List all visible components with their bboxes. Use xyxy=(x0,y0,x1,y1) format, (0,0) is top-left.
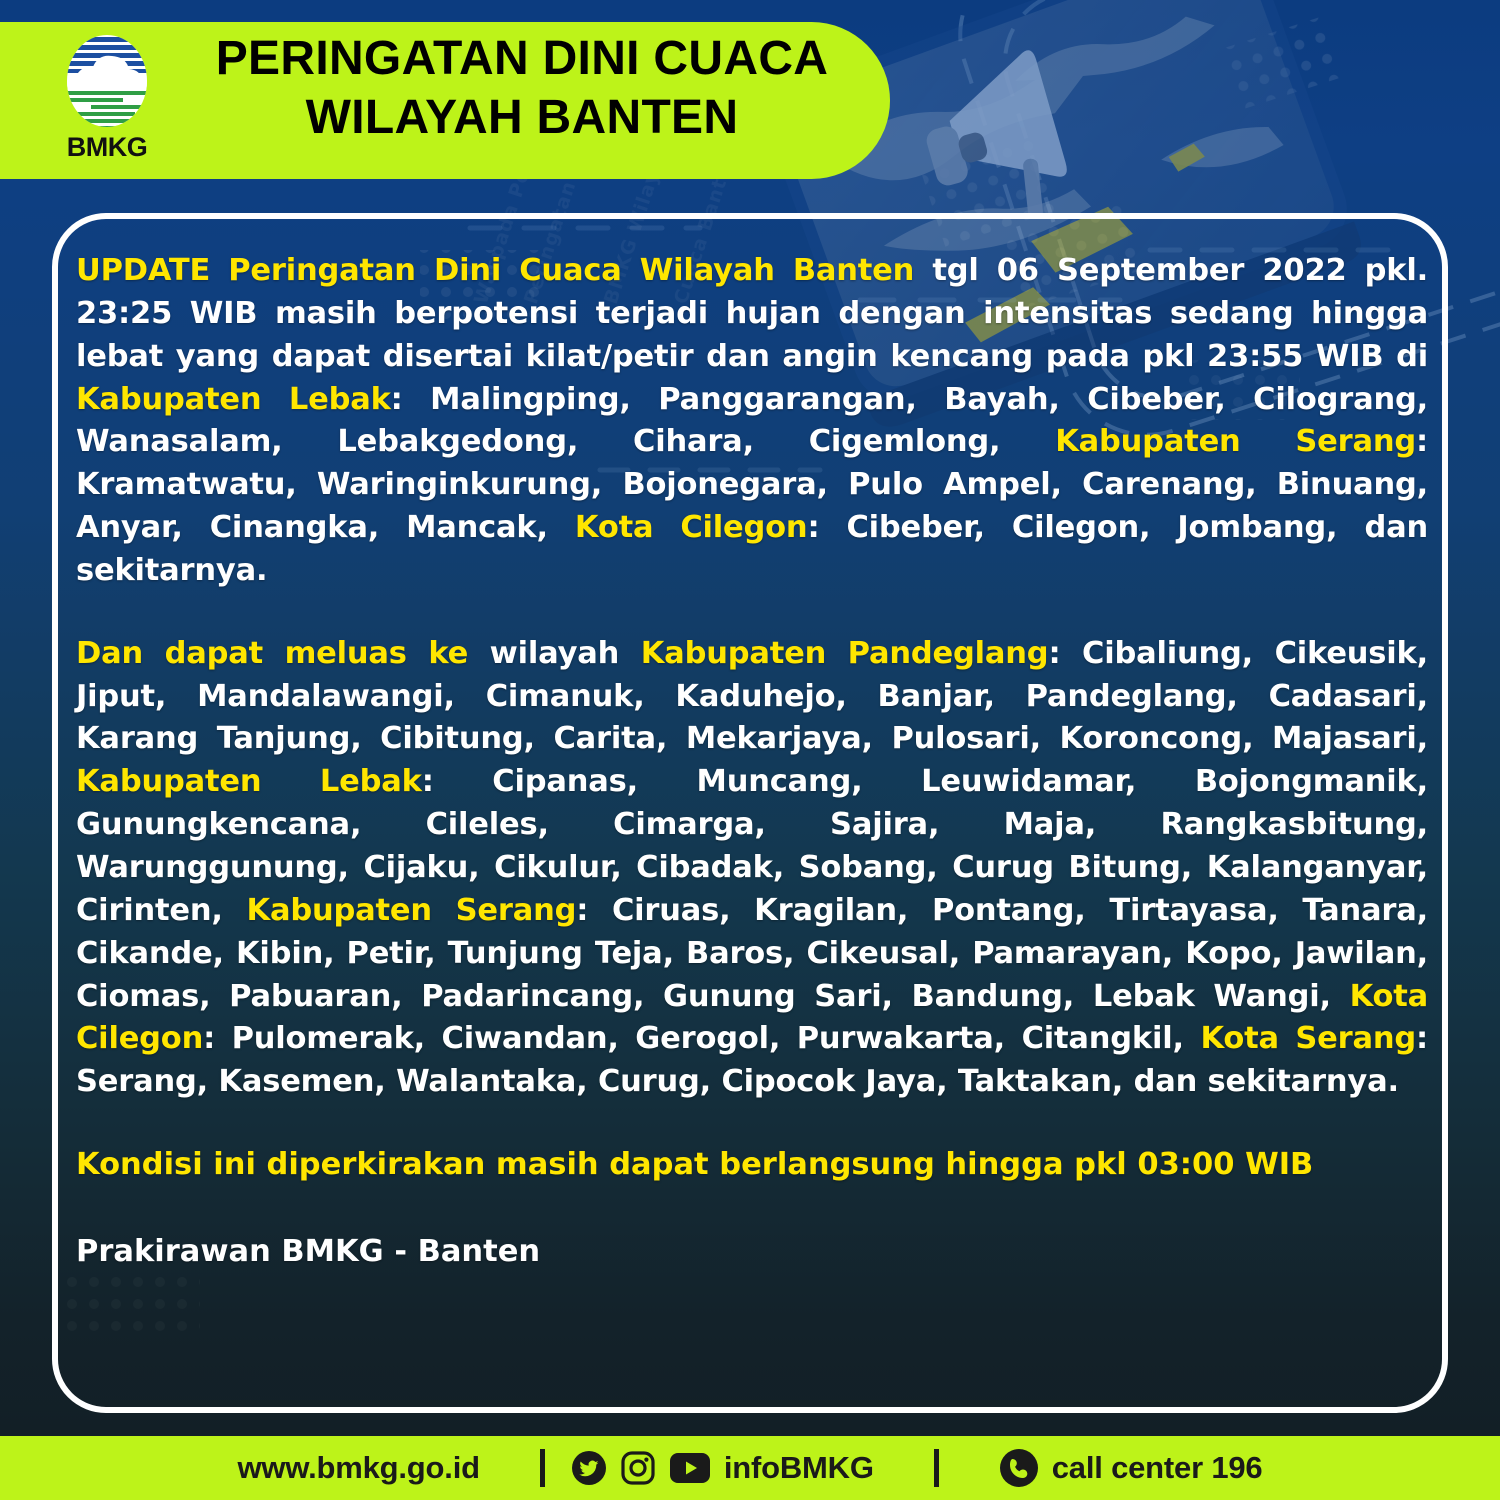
twitter-icon[interactable] xyxy=(571,1450,607,1486)
footer-divider-1 xyxy=(540,1449,545,1487)
warning-paragraph-2-run-9: : Pulomerak, Ciwandan, Gerogol, Purwakar… xyxy=(203,1021,1200,1056)
warning-paragraph-2-run-1: wilayah xyxy=(468,636,641,671)
warning-paragraph-2-run-2: Kabupaten Pandeglang xyxy=(641,636,1049,671)
bmkg-logo: BMKG xyxy=(58,34,156,164)
warning-paragraph-2-run-10: Kota Serang xyxy=(1200,1021,1416,1056)
warning-paragraph-2-run-6: Kabupaten Serang xyxy=(247,893,577,928)
warning-paragraph-1: UPDATE Peringatan Dini Cuaca Wilayah Ban… xyxy=(76,250,1428,593)
warning-paragraph-2: Dan dapat meluas ke wilayah Kabupaten Pa… xyxy=(76,633,1428,1104)
page-title: PERINGATAN DINI CUACA WILAYAH BANTEN xyxy=(172,30,872,147)
page-title-line-2: WILAYAH BANTEN xyxy=(172,89,872,148)
warning-paragraph-1-run-4: Kabupaten Serang xyxy=(1055,424,1416,459)
warning-paragraph-2-run-0: Dan dapat meluas ke xyxy=(76,636,468,671)
footer-call-center[interactable]: call center 196 xyxy=(1052,1450,1263,1486)
warning-paragraph-1-run-2: Kabupaten Lebak xyxy=(76,382,391,417)
warning-content: UPDATE Peringatan Dini Cuaca Wilayah Ban… xyxy=(72,250,1432,1380)
phone-icon xyxy=(999,1448,1039,1488)
warning-closing-note: Kondisi ini diperkirakan masih dapat ber… xyxy=(76,1144,1428,1187)
warning-paragraph-1-run-0: UPDATE Peringatan Dini Cuaca Wilayah Ban… xyxy=(76,253,914,288)
instagram-icon[interactable] xyxy=(620,1450,656,1486)
bmkg-logo-icon xyxy=(65,34,149,132)
youtube-icon[interactable] xyxy=(669,1452,711,1484)
page-title-line-1: PERINGATAN DINI CUACA xyxy=(216,32,829,85)
poster-canvas: Peringatan Dini BMKG Wilayah Cuaca Bante… xyxy=(0,0,1500,1500)
footer-social-handle[interactable]: infoBMKG xyxy=(724,1450,874,1486)
footer-website[interactable]: www.bmkg.go.id xyxy=(238,1450,480,1486)
warning-signature: Prakirawan BMKG - Banten xyxy=(76,1231,1428,1274)
footer-bar: www.bmkg.go.id xyxy=(0,1436,1500,1500)
bmkg-logo-text: BMKG xyxy=(67,134,148,161)
warning-paragraph-1-run-6: Kota Cilegon xyxy=(575,510,808,545)
footer-divider-2 xyxy=(934,1449,939,1487)
warning-paragraph-2-run-4: Kabupaten Lebak xyxy=(76,764,422,799)
